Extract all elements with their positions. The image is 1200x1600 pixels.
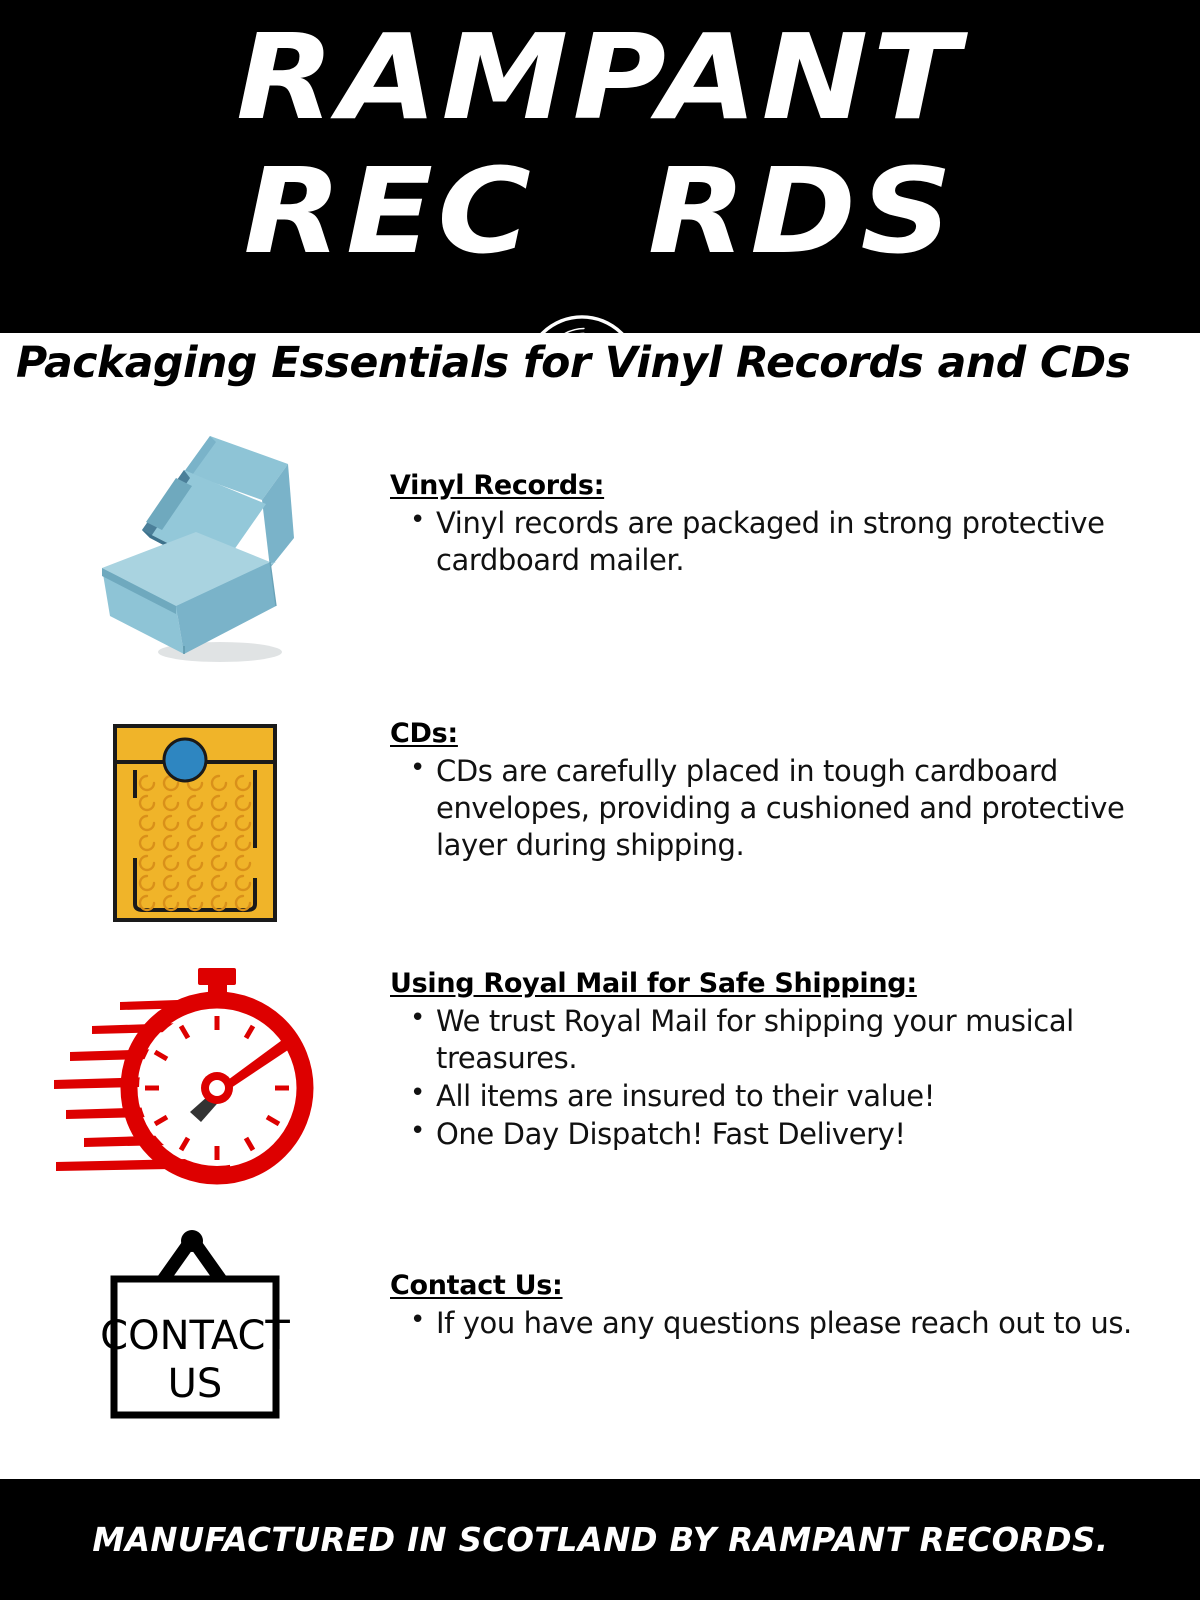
section-cds: CDs: CDs are carefully placed in tough c…: [0, 718, 1200, 928]
section-bullet-list: We trust Royal Mail for shipping your mu…: [390, 1003, 1176, 1153]
section-icon-slot: [0, 470, 390, 670]
footer-text: MANUFACTURED IN SCOTLAND BY RAMPANT RECO…: [92, 1520, 1108, 1559]
list-item: Vinyl records are packaged in strong pro…: [436, 505, 1176, 579]
section-icon-slot: [0, 718, 390, 928]
section-text-block: Vinyl Records: Vinyl records are package…: [390, 470, 1200, 580]
list-item: One Day Dispatch! Fast Delivery!: [436, 1116, 1176, 1153]
section-royal-mail: Using Royal Mail for Safe Shipping: We t…: [0, 968, 1200, 1190]
section-text-block: Contact Us: If you have any questions pl…: [390, 1270, 1200, 1343]
section-heading: CDs:: [390, 718, 458, 749]
section-contact-us: CONTACT US Contact Us: If you have any q…: [0, 1270, 1200, 1425]
section-bullet-list: Vinyl records are packaged in strong pro…: [390, 505, 1176, 579]
fast-stopwatch-icon: [50, 960, 340, 1190]
header-banner: RAMPANT RECORDS: [0, 0, 1200, 333]
brand-title-line2-wrap: RECORDS: [0, 152, 1200, 302]
brand-title-line1: RAMPANT: [0, 18, 1200, 136]
list-item: If you have any questions please reach o…: [436, 1305, 1176, 1342]
padded-envelope-icon: [105, 718, 285, 928]
section-text-block: Using Royal Mail for Safe Shipping: We t…: [390, 968, 1200, 1154]
section-heading: Contact Us:: [390, 1270, 563, 1301]
list-item: We trust Royal Mail for shipping your mu…: [436, 1003, 1176, 1077]
section-icon-slot: CONTACT US: [0, 1270, 390, 1425]
list-item: CDs are carefully placed in tough cardbo…: [436, 753, 1176, 864]
brand-title-line2: RECORDS: [0, 152, 1200, 270]
section-icon-slot: [0, 968, 390, 1190]
brand-title-line2-right: RDS: [648, 142, 957, 280]
section-text-block: CDs: CDs are carefully placed in tough c…: [390, 718, 1200, 865]
section-vinyl-records: Vinyl Records: Vinyl records are package…: [0, 470, 1200, 670]
contact-sign-label-line2: US: [168, 1361, 223, 1407]
section-heading: Using Royal Mail for Safe Shipping:: [390, 968, 917, 999]
vinyl-record-icon: [524, 315, 640, 333]
contact-sign-label-line1: CONTACT: [100, 1313, 290, 1359]
brand-title-line2-left: REC: [243, 142, 535, 280]
footer-banner: MANUFACTURED IN SCOTLAND BY RAMPANT RECO…: [0, 1479, 1200, 1600]
page-subtitle: Packaging Essentials for Vinyl Records a…: [16, 338, 1179, 388]
section-bullet-list: If you have any questions please reach o…: [390, 1305, 1176, 1342]
section-bullet-list: CDs are carefully placed in tough cardbo…: [390, 753, 1176, 864]
section-heading: Vinyl Records:: [390, 470, 604, 501]
hanging-contact-sign-icon: CONTACT US: [100, 1225, 290, 1425]
list-item: All items are insured to their value!: [436, 1078, 1176, 1115]
cardboard-mailer-box-icon: [80, 420, 310, 670]
